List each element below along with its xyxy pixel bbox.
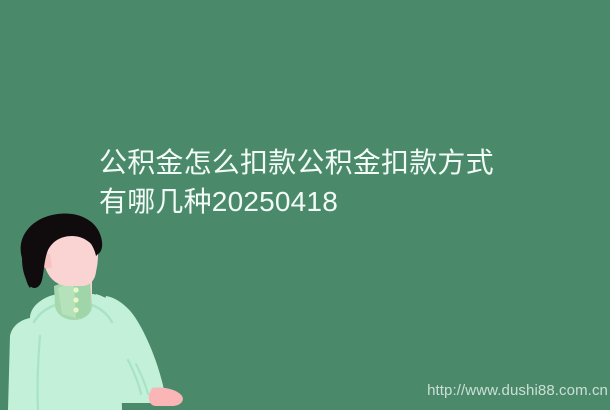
page-title: 公积金怎么扣款公积金扣款方式有哪几种20250418 xyxy=(99,143,519,221)
person-illustration xyxy=(0,210,210,410)
hand-shape xyxy=(149,387,183,406)
promo-banner: 公积金怎么扣款公积金扣款方式有哪几种20250418 http://www.du… xyxy=(0,0,610,410)
collar-button-2 xyxy=(73,297,78,302)
collar-button-3 xyxy=(73,307,78,312)
site-url-watermark: http://www.dushi88.com.cn xyxy=(427,382,608,400)
collar-button-1 xyxy=(73,287,78,292)
